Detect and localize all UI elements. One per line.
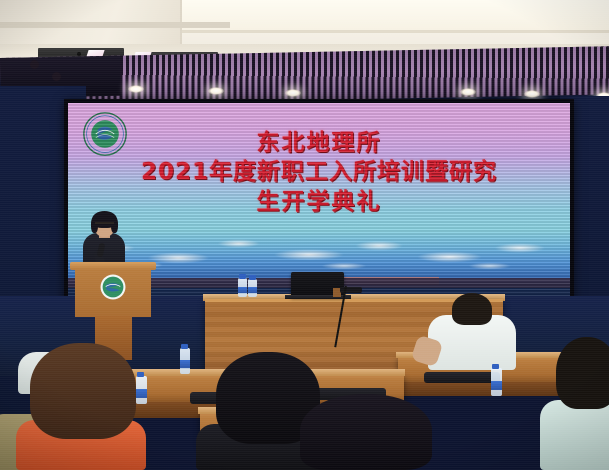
ceiling-speaker <box>30 60 39 69</box>
bottle-label <box>180 360 190 368</box>
water-bottle <box>491 368 502 396</box>
bottle-cap <box>249 275 256 280</box>
bottle-label <box>238 287 247 293</box>
ceiling-downlight <box>285 89 301 97</box>
ceiling-light-panel <box>170 0 609 33</box>
chair-back <box>424 372 500 383</box>
speaker-glasses <box>95 222 114 229</box>
ceiling-speaker <box>52 72 61 81</box>
bottle-label <box>491 381 502 390</box>
bottle-cap <box>137 372 144 377</box>
bottle-cap <box>239 274 246 279</box>
ceiling-downlight <box>208 87 224 95</box>
screen-title: 东北地理所 2021年度新职工入所培训暨研究 生开学典礼 <box>68 129 570 217</box>
podium-emblem-icon <box>100 274 126 300</box>
water-bottle <box>180 348 190 374</box>
attendee-body <box>540 400 609 470</box>
conference-hall-photo: 东北地理所 2021年度新职工入所培训暨研究 生开学典礼 <box>0 0 609 470</box>
screen-title-line-1: 东北地理所 <box>68 129 570 158</box>
attendee-head <box>300 394 432 470</box>
attendee-head <box>30 343 136 439</box>
attendee-head <box>452 293 492 325</box>
water-bottle <box>238 278 247 297</box>
bottle-label <box>248 287 257 293</box>
laptop-base <box>285 295 351 299</box>
bottle-cap <box>492 364 499 369</box>
water-bottle <box>136 376 147 404</box>
ceiling-beam-secondary <box>0 22 230 28</box>
screen-title-line-2: 2021年度新职工入所培训暨研究 <box>68 158 570 187</box>
ceiling-downlight <box>128 85 144 93</box>
water-bottle <box>248 279 257 297</box>
bottle-label <box>136 389 147 398</box>
screen-title-line-3: 生开学典礼 <box>68 188 570 217</box>
ceiling-downlight <box>524 90 540 98</box>
attendee-head <box>556 337 609 409</box>
ceiling-downlight <box>460 88 476 96</box>
bottle-cap <box>181 344 188 349</box>
